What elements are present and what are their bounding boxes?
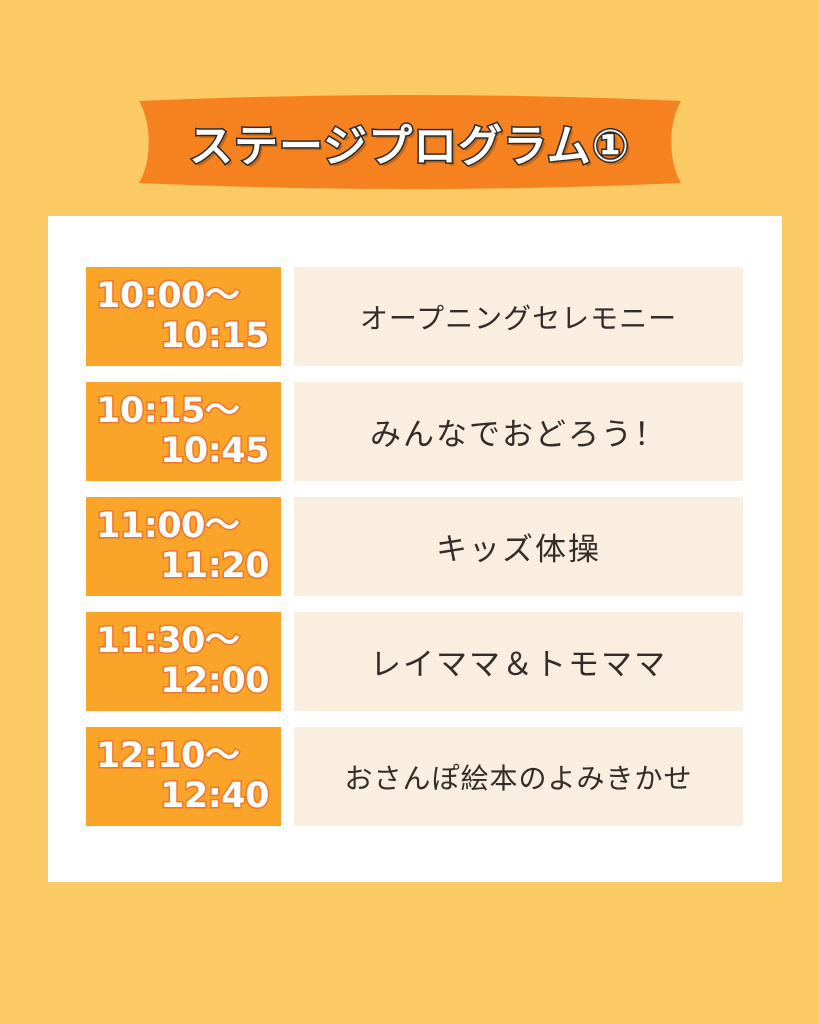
- schedule-card: 10:00〜 10:15 オープニングセレモニー 10:15〜 10:45 みん…: [48, 216, 782, 882]
- table-row: 12:10〜 12:40 おさんぽ絵本のよみきかせ: [86, 727, 743, 826]
- time-end: 12:40: [96, 777, 269, 816]
- stage-program-banner: ステージプログラム①: [0, 93, 819, 191]
- time-end: 10:45: [96, 432, 269, 471]
- time-cell: 11:30〜 12:00: [86, 612, 281, 711]
- time-start: 10:00〜: [96, 277, 269, 316]
- time-cell: 11:00〜 11:20: [86, 497, 281, 596]
- time-start: 11:30〜: [96, 622, 269, 661]
- schedule-list: 10:00〜 10:15 オープニングセレモニー 10:15〜 10:45 みん…: [86, 267, 743, 826]
- time-start: 10:15〜: [96, 392, 269, 431]
- program-title: おさんぽ絵本のよみきかせ: [294, 727, 743, 826]
- time-start: 12:10〜: [96, 737, 269, 776]
- time-end: 12:00: [96, 662, 269, 701]
- program-title: みんなでおどろう！: [294, 382, 743, 481]
- time-cell: 10:15〜 10:45: [86, 382, 281, 481]
- time-end: 10:15: [96, 317, 269, 356]
- time-cell: 10:00〜 10:15: [86, 267, 281, 366]
- page-title: ステージプログラム①: [0, 93, 819, 191]
- table-row: 10:00〜 10:15 オープニングセレモニー: [86, 267, 743, 366]
- program-title: レイママ＆トモママ: [294, 612, 743, 711]
- table-row: 11:00〜 11:20 キッズ体操: [86, 497, 743, 596]
- time-end: 11:20: [96, 547, 269, 586]
- program-title: オープニングセレモニー: [294, 267, 743, 366]
- program-title: キッズ体操: [294, 497, 743, 596]
- time-cell: 12:10〜 12:40: [86, 727, 281, 826]
- time-start: 11:00〜: [96, 507, 269, 546]
- table-row: 11:30〜 12:00 レイママ＆トモママ: [86, 612, 743, 711]
- table-row: 10:15〜 10:45 みんなでおどろう！: [86, 382, 743, 481]
